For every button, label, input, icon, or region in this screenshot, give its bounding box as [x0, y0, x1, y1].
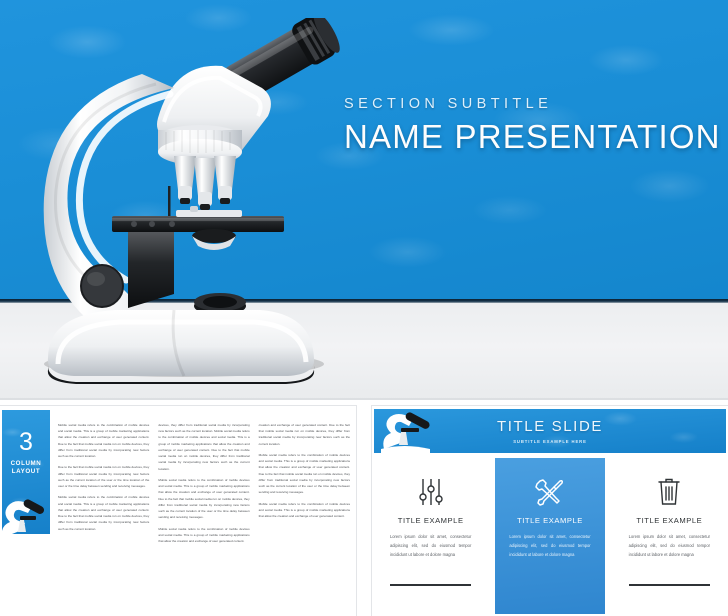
- card-underline: [629, 584, 710, 586]
- banner-subtitle: SUBTITLE EXAMPLE HERE: [374, 439, 726, 444]
- paragraph: Due to the fact that mobile social media…: [58, 464, 149, 489]
- feature-cards: TITLE EXAMPLE Lorem ipsum dolor sit amet…: [374, 458, 726, 614]
- section-subtitle: SECTION SUBTITLE: [344, 96, 716, 112]
- layout-number: 3: [2, 430, 50, 455]
- card-body: Lorem ipsum dolor sit amet, consectetur …: [625, 532, 714, 560]
- thumbnail-slide-title[interactable]: TITLE SLIDE SUBTITLE EXAMPLE HERE TITLE …: [372, 406, 728, 616]
- text-column: Mobile social media refers to the combin…: [58, 422, 149, 612]
- paragraph: devices, they differ from traditional so…: [158, 422, 249, 472]
- card-title: TITLE EXAMPLE: [505, 516, 594, 525]
- sidebar-column-layout: 3 COLUMN LAYOUT: [2, 410, 50, 534]
- feature-card[interactable]: TITLE EXAMPLE Lorem ipsum dolor sit amet…: [495, 458, 604, 614]
- page-title: NAME PRESENTATION: [344, 118, 716, 156]
- paragraph: creation and exchange of user generated …: [259, 422, 350, 447]
- card-body: Lorem ipsum dolor sit amet, consectetur …: [505, 532, 594, 560]
- card-body: Lorem ipsum dolor sit amet, consectetur …: [386, 532, 475, 560]
- paragraph: Mobile social media refers to the combin…: [158, 526, 249, 545]
- paragraph: Mobile social media refers to the combin…: [259, 452, 350, 496]
- card-underline: [390, 584, 471, 586]
- feature-card[interactable]: TITLE EXAMPLE Lorem ipsum dolor sit amet…: [376, 458, 485, 614]
- card-title: TITLE EXAMPLE: [386, 516, 475, 525]
- card-title: TITLE EXAMPLE: [625, 516, 714, 525]
- three-column-text: Mobile social media refers to the combin…: [58, 422, 350, 612]
- tools-icon: [505, 472, 594, 512]
- trash-icon: [625, 472, 714, 512]
- banner-title: TITLE SLIDE: [374, 418, 726, 435]
- paragraph: Mobile social media refers to the combin…: [259, 501, 350, 520]
- hero-text-block: SECTION SUBTITLE NAME PRESENTATION: [344, 96, 716, 156]
- thumbnail-slide-three-column-layout[interactable]: 3 COLUMN LAYOUT Mobile social media refe…: [0, 406, 356, 616]
- text-column: creation and exchange of user generated …: [259, 422, 350, 612]
- paragraph: Mobile social media refers to the combin…: [158, 477, 249, 521]
- layout-label-column: COLUMN: [2, 460, 50, 467]
- hero-slide[interactable]: SECTION SUBTITLE NAME PRESENTATION: [0, 0, 728, 400]
- microscope-illustration: [24, 18, 354, 388]
- paragraph: Mobile social media refers to the combin…: [58, 422, 149, 459]
- sliders-icon: [386, 472, 475, 512]
- title-banner: TITLE SLIDE SUBTITLE EXAMPLE HERE: [374, 409, 726, 453]
- feature-card[interactable]: TITLE EXAMPLE Lorem ipsum dolor sit amet…: [615, 458, 724, 614]
- layout-label-layout: LAYOUT: [2, 468, 50, 475]
- paragraph: Mobile social media refers to the combin…: [58, 494, 149, 531]
- text-column: devices, they differ from traditional so…: [158, 422, 249, 612]
- microscope-icon: [2, 496, 50, 534]
